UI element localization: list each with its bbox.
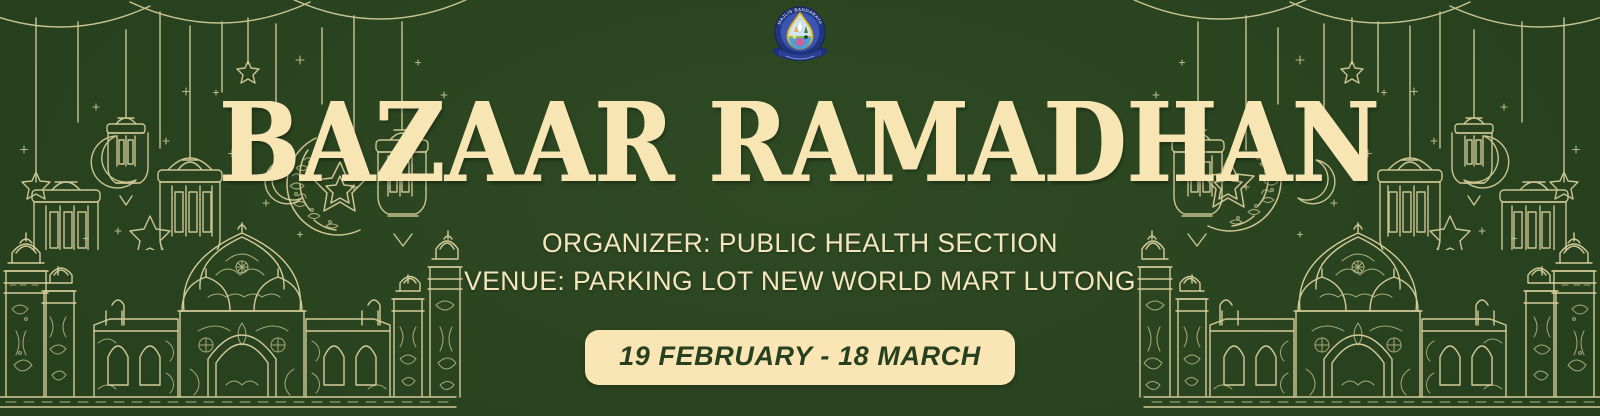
banner-content: MAJLIS BANDARAYA	[0, 0, 1600, 416]
venue-line: VENUE: PARKING LOT NEW WORLD MART LUTONG	[464, 263, 1136, 301]
ramadan-bazaar-banner: MAJLIS BANDARAYA	[0, 0, 1600, 416]
page-title: BAZAAR RAMADHAN	[220, 88, 1381, 198]
date-range-badge: 19 FEBRUARY - 18 MARCH	[585, 330, 1015, 385]
council-crest-emblem: MAJLIS BANDARAYA	[764, 4, 836, 68]
event-details: ORGANIZER: PUBLIC HEALTH SECTION VENUE: …	[464, 225, 1136, 300]
organizer-line: ORGANIZER: PUBLIC HEALTH SECTION	[464, 225, 1136, 263]
